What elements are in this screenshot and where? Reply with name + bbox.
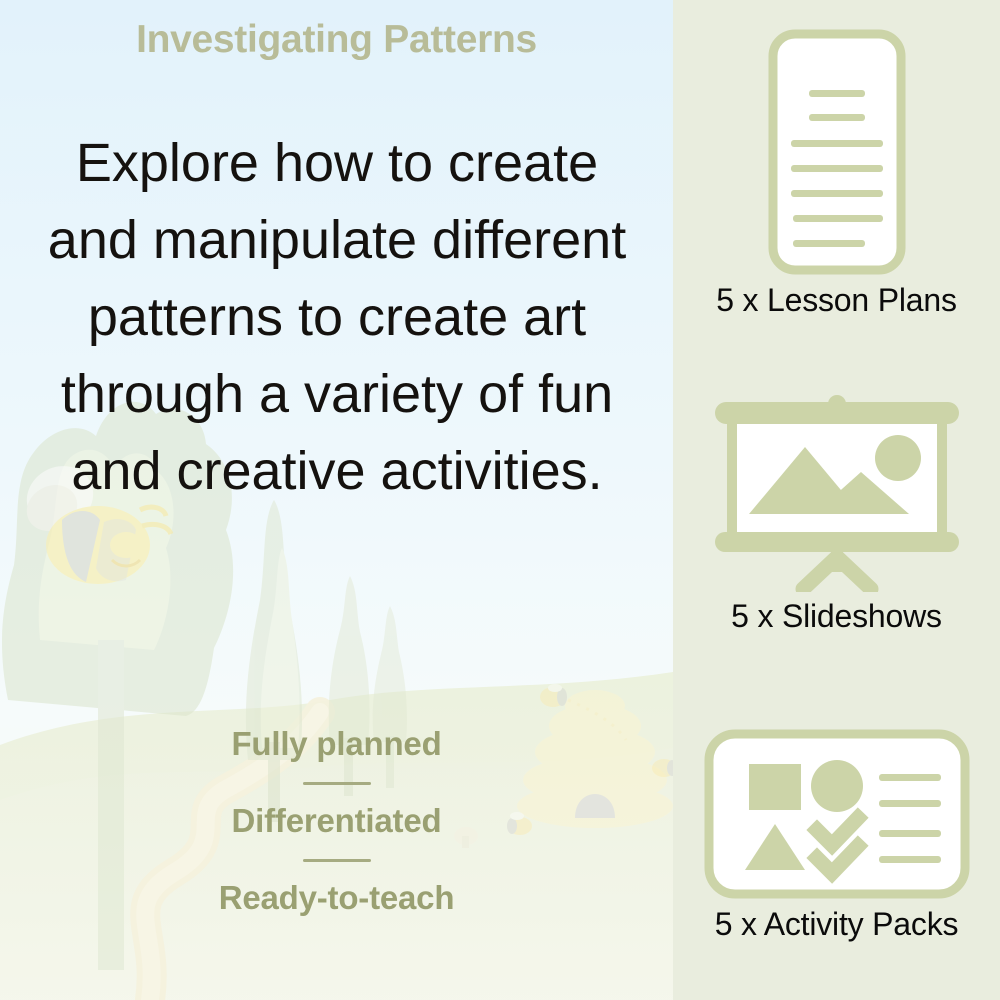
feature-item-fully-planned: Fully planned [0, 722, 673, 766]
deliverable-slideshows: 5 x Slideshows [673, 392, 1000, 635]
presentation-screen-icon [701, 392, 973, 592]
deliverable-activity-packs: 5 x Activity Packs [673, 728, 1000, 943]
left-content-panel: Investigating Patterns Explore how to cr… [0, 0, 673, 1000]
deliverables-panel: 5 x Lesson Plans [673, 0, 1000, 1000]
deliverable-label: 5 x Activity Packs [673, 906, 1000, 943]
deliverable-label: 5 x Lesson Plans [673, 282, 1000, 319]
feature-divider [303, 859, 371, 862]
description-text: Explore how to create and manipulate dif… [46, 125, 628, 510]
deliverable-lesson-plans: 5 x Lesson Plans [673, 28, 1000, 319]
page-title: Investigating Patterns [0, 18, 673, 62]
feature-divider [303, 782, 371, 785]
feature-item-differentiated: Differentiated [0, 799, 673, 843]
document-icon [721, 28, 953, 276]
deliverable-label: 5 x Slideshows [673, 598, 1000, 635]
promo-graphic: Investigating Patterns Explore how to cr… [0, 0, 1000, 1000]
feature-item-ready-to-teach: Ready-to-teach [0, 876, 673, 920]
activity-card-icon [701, 728, 973, 900]
feature-list: Fully planned Differentiated Ready-to-te… [0, 722, 673, 920]
